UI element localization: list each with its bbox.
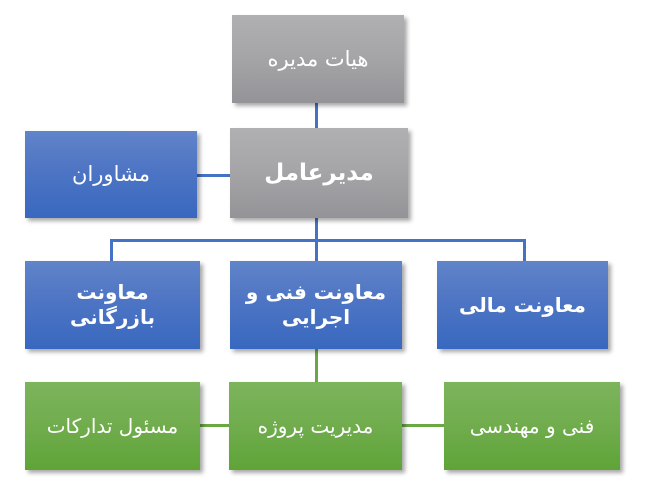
node-procurement-officer[interactable]: مسئول تدارکات (25, 382, 200, 470)
org-chart: هیات مدیره مدیرعامل مشاوران معاونت بازرگ… (0, 0, 650, 488)
node-deputy-commercial[interactable]: معاونت بازرگانی (25, 261, 200, 349)
node-advisors[interactable]: مشاوران (25, 131, 197, 218)
node-deputy-commercial-label: معاونت بازرگانی (33, 280, 192, 330)
node-deputy-financial-label: معاونت مالی (445, 293, 600, 318)
node-ceo[interactable]: مدیرعامل (230, 128, 408, 218)
node-project-management[interactable]: مدیریت پروژه (229, 382, 402, 470)
node-deputy-technical-label: معاونت فنی و اجرایی (238, 280, 394, 330)
node-technical-engineering-label: فنی و مهندسی (452, 414, 612, 439)
node-board-of-directors-label: هیات مدیره (240, 46, 396, 72)
node-project-management-label: مدیریت پروژه (237, 414, 394, 439)
connector-board-to-ceo (315, 100, 318, 130)
node-procurement-officer-label: مسئول تدارکات (33, 414, 192, 439)
node-technical-engineering[interactable]: فنی و مهندسی (444, 382, 620, 470)
node-ceo-label: مدیرعامل (238, 159, 400, 188)
node-deputy-financial[interactable]: معاونت مالی (437, 261, 608, 349)
node-deputy-technical[interactable]: معاونت فنی و اجرایی (230, 261, 402, 349)
connector-technical-to-project (315, 347, 318, 385)
node-advisors-label: مشاوران (33, 161, 189, 187)
connector-project-to-procurement (198, 424, 230, 427)
connector-project-to-engineering (401, 424, 445, 427)
node-board-of-directors[interactable]: هیات مدیره (232, 15, 404, 103)
connector-ceo-to-advisors (195, 174, 233, 177)
